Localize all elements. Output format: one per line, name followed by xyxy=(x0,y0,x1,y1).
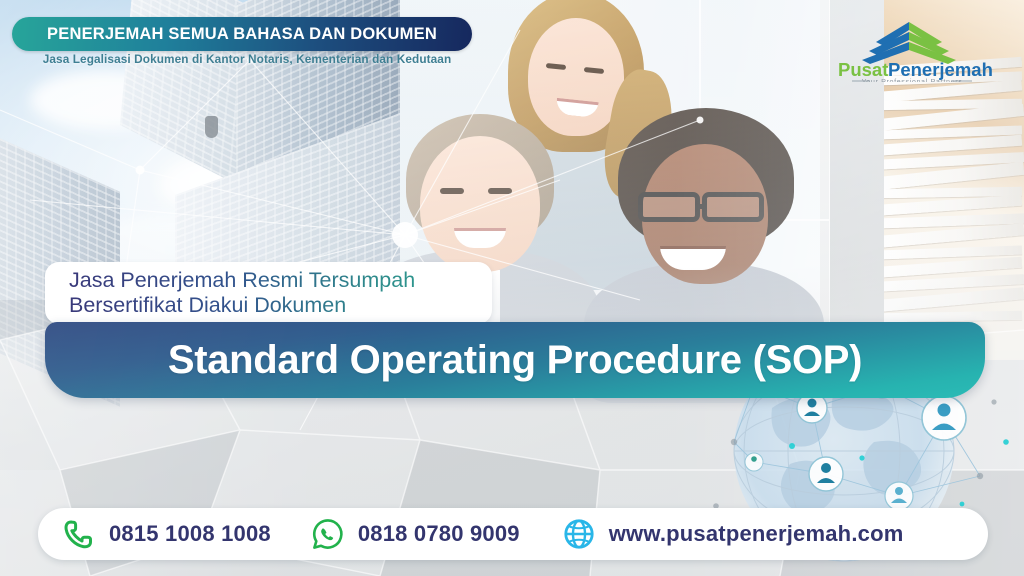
contact-phone[interactable]: 0815 1008 1008 xyxy=(62,517,271,551)
contact-website-label: www.pusatpenerjemah.com xyxy=(609,521,904,547)
logo-tagline: Your Professional Partners xyxy=(862,77,963,82)
contact-bar: 0815 1008 1008 0818 0780 9009 xyxy=(38,508,988,560)
top-banner-headline: PENERJEMAH SEMUA BAHASA DAN DOKUMEN xyxy=(47,25,437,44)
contact-website[interactable]: www.pusatpenerjemah.com xyxy=(562,517,904,551)
hero-subtitle-line1: Jasa Penerjemah Resmi Tersumpah xyxy=(69,268,492,293)
globe-icon xyxy=(562,517,596,551)
phone-icon xyxy=(62,517,96,551)
hero-subtitle-card: Jasa Penerjemah Resmi Tersumpah Berserti… xyxy=(45,262,492,324)
poster-canvas: PENERJEMAH SEMUA BAHASA DAN DOKUMEN Jasa… xyxy=(0,0,1024,576)
contact-whatsapp-label: 0818 0780 9009 xyxy=(358,521,520,547)
whatsapp-icon xyxy=(311,517,345,551)
contact-whatsapp[interactable]: 0818 0780 9009 xyxy=(311,517,520,551)
brand-logo[interactable]: Pusat Penerjemah Your Professional Partn… xyxy=(814,10,1004,82)
hero-title: Standard Operating Procedure (SOP) xyxy=(168,338,862,383)
hero-title-band: Standard Operating Procedure (SOP) xyxy=(45,322,985,398)
top-banner-subheadline: Jasa Legalisasi Dokumen di Kantor Notari… xyxy=(22,52,472,66)
top-banner: PENERJEMAH SEMUA BAHASA DAN DOKUMEN xyxy=(12,17,472,51)
contact-phone-label: 0815 1008 1008 xyxy=(109,521,271,547)
hero-subtitle-line2: Bersertifikat Diakui Dokumen xyxy=(69,293,492,318)
